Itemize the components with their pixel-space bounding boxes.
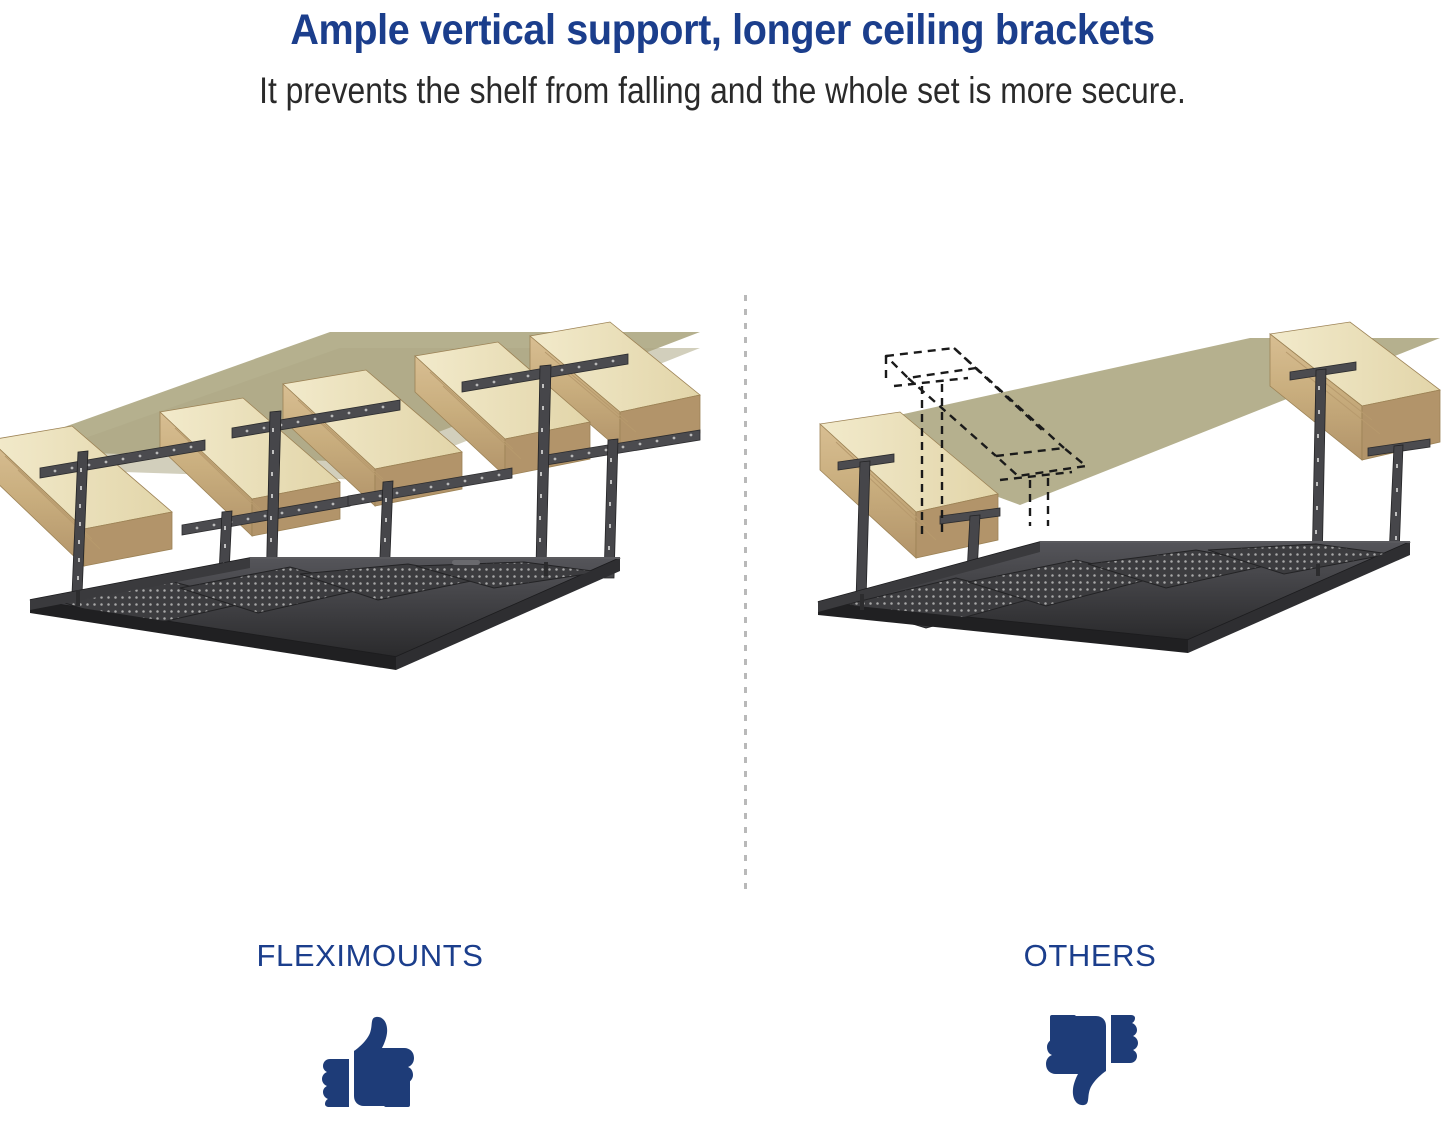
vertical-dotted-divider — [744, 295, 747, 891]
page-subtitle: It prevents the shelf from falling and t… — [101, 53, 1344, 112]
page-title: Ample vertical support, longer ceiling b… — [58, 0, 1387, 53]
fleximounts-rack-illustration — [0, 300, 720, 730]
fleximounts-verdict: FLEXIMOUNTS — [60, 940, 680, 1107]
thumbs-down-icon — [790, 1015, 1390, 1107]
fleximounts-label: FLEXIMOUNTS — [60, 940, 680, 971]
others-rack-illustration — [790, 320, 1445, 680]
infographic-page: Ample vertical support, longer ceiling b… — [0, 0, 1445, 1139]
others-verdict: OTHERS — [790, 940, 1390, 1107]
storage-rack-deck — [30, 558, 620, 670]
header: Ample vertical support, longer ceiling b… — [0, 0, 1445, 112]
others-label: OTHERS — [790, 940, 1390, 971]
storage-rack-deck — [818, 542, 1410, 653]
thumbs-up-icon — [60, 1015, 680, 1107]
